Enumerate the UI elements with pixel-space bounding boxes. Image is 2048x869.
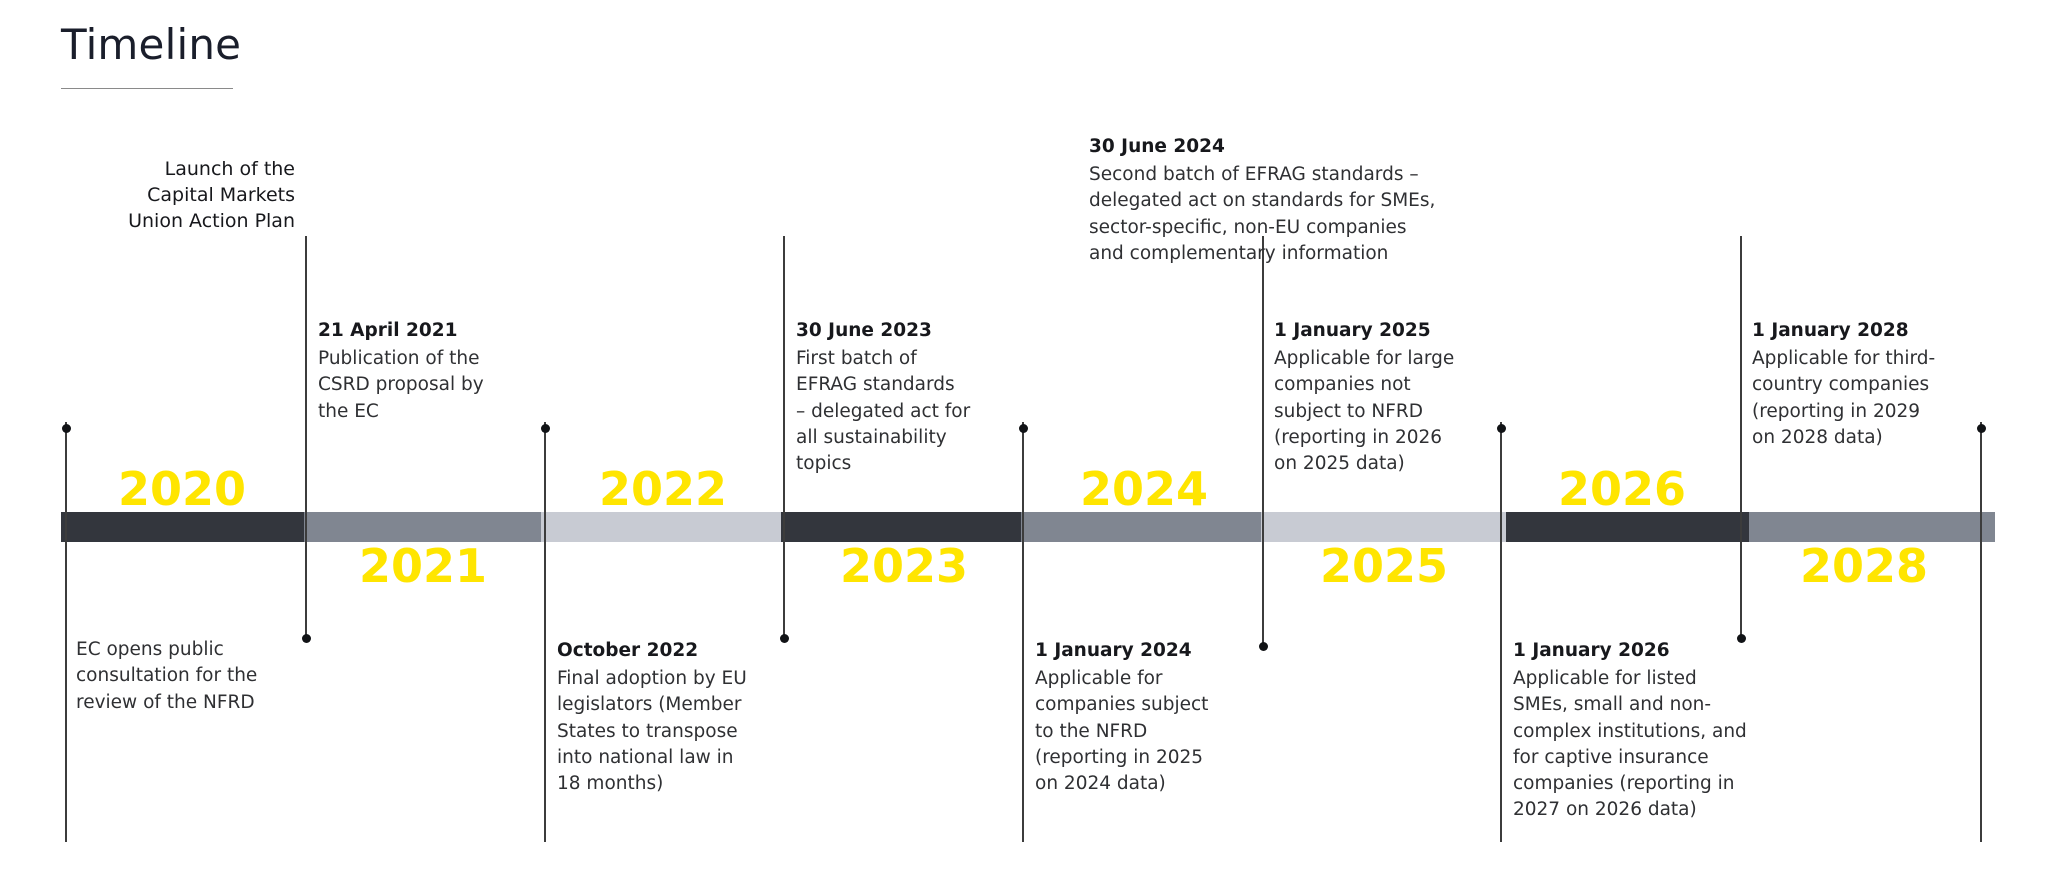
event-body: Final adoption by EU legislators (Member… (557, 666, 772, 797)
timeline-bar-segment (1506, 512, 1749, 542)
title-underline-divider (61, 88, 233, 89)
event-date: 1 January 2024 (1035, 637, 1235, 664)
timeline-year-label-2025: 2025 (1320, 543, 1448, 589)
timeline-canvas: Timeline 2020202120222023202420252026202… (0, 0, 2048, 869)
event-body: EC opens public consultation for the rev… (76, 637, 276, 716)
event-2021-csrd-proposal: 21 April 2021 Publication of the CSRD pr… (318, 317, 533, 425)
event-body: Second batch of EFRAG standards – delega… (1089, 162, 1459, 267)
event-2020-consultation: EC opens public consultation for the rev… (76, 637, 276, 716)
timeline-year-label-2022: 2022 (599, 466, 727, 512)
timeline-connector-line (305, 236, 307, 638)
timeline-connector-line (65, 422, 67, 842)
event-2026-applicable-listed-smes: 1 January 2026 Applicable for listed SME… (1513, 637, 1758, 824)
timeline-bar-segment (781, 512, 1021, 542)
timeline-bar-segment (61, 512, 304, 542)
timeline-bar-segment (1021, 512, 1261, 542)
timeline-milestone-dot (541, 424, 550, 433)
timeline-milestone-dot (302, 634, 311, 643)
event-body: Publication of the CSRD proposal by the … (318, 346, 533, 425)
timeline-year-label-2021: 2021 (359, 543, 487, 589)
event-date: 1 January 2028 (1752, 317, 1962, 344)
page-title: Timeline (61, 22, 241, 68)
event-date: 1 January 2026 (1513, 637, 1758, 664)
event-date: 30 June 2024 (1089, 133, 1459, 160)
timeline-bar (61, 512, 1995, 542)
timeline-connector-line (1740, 236, 1742, 638)
event-2024-second-batch-efrag: 30 June 2024 Second batch of EFRAG stand… (1089, 133, 1459, 267)
event-date: 1 January 2025 (1274, 317, 1479, 344)
timeline-connector-line (1022, 422, 1024, 842)
timeline-year-label-2026: 2026 (1558, 466, 1686, 512)
event-body: Applicable for large companies not subje… (1274, 346, 1479, 477)
timeline-bar-segment (304, 512, 541, 542)
event-date: 21 April 2021 (318, 317, 533, 344)
timeline-year-label-2020: 2020 (118, 466, 246, 512)
timeline-year-label-2024: 2024 (1080, 466, 1208, 512)
event-date: October 2022 (557, 637, 772, 664)
timeline-milestone-dot (62, 424, 71, 433)
event-body: Launch of the Capital Markets Union Acti… (105, 156, 295, 234)
timeline-connector-line (783, 236, 785, 638)
event-2020-cmu-action-plan: Launch of the Capital Markets Union Acti… (105, 156, 295, 234)
timeline-connector-line (1500, 422, 1502, 842)
timeline-milestone-dot (1259, 642, 1268, 651)
timeline-milestone-dot (1497, 424, 1506, 433)
event-body: Applicable for listed SMEs, small and no… (1513, 666, 1758, 824)
timeline-connector-line (1980, 422, 1982, 842)
event-body: First batch of EFRAG standards – delegat… (796, 346, 996, 477)
timeline-bar-segment (1749, 512, 1995, 542)
event-2025-applicable-large-companies: 1 January 2025 Applicable for large comp… (1274, 317, 1479, 477)
timeline-connector-line (544, 422, 546, 842)
timeline-bar-segment (1261, 512, 1506, 542)
event-body: Applicable for companies subject to the … (1035, 666, 1235, 797)
timeline-year-label-2023: 2023 (840, 543, 968, 589)
event-date: 30 June 2023 (796, 317, 996, 344)
event-2022-final-adoption: October 2022 Final adoption by EU legisl… (557, 637, 772, 797)
event-2024-applicable-nfrd: 1 January 2024 Applicable for companies … (1035, 637, 1235, 797)
event-body: Applicable for third- country companies … (1752, 346, 1962, 451)
timeline-milestone-dot (1019, 424, 1028, 433)
timeline-connector-line (1262, 236, 1264, 646)
timeline-milestone-dot (780, 634, 789, 643)
timeline-milestone-dot (1977, 424, 1986, 433)
event-2023-first-batch-efrag: 30 June 2023 First batch of EFRAG standa… (796, 317, 996, 477)
timeline-year-label-2028: 2028 (1800, 543, 1928, 589)
event-2028-applicable-third-country: 1 January 2028 Applicable for third- cou… (1752, 317, 1962, 451)
timeline-bar-segment (541, 512, 781, 542)
